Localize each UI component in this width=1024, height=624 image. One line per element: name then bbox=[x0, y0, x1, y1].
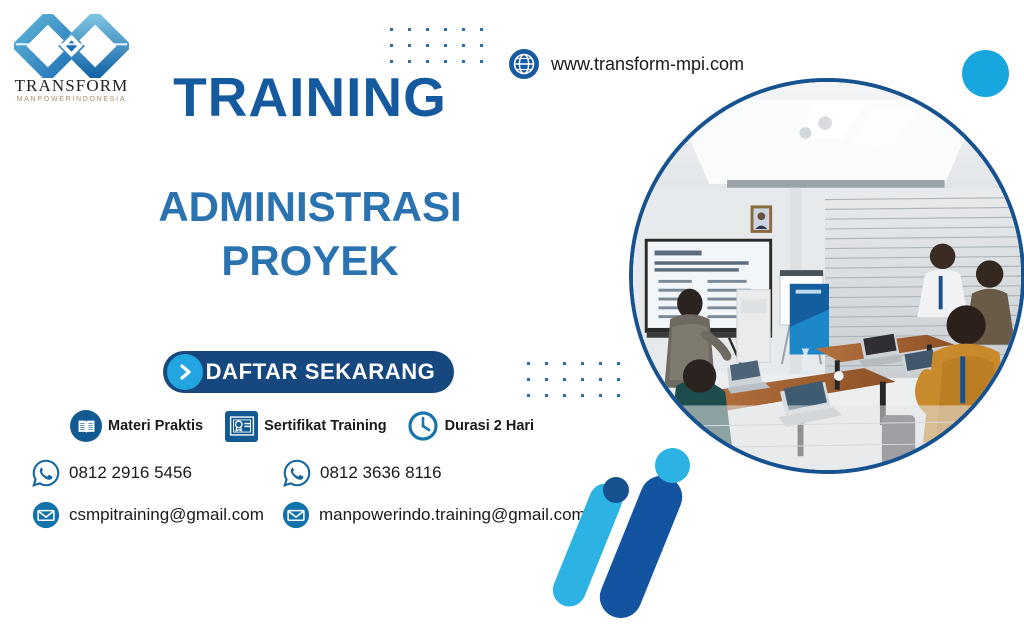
page-title: TRAINING bbox=[90, 70, 530, 125]
subtitle-line-2: PROYEK bbox=[90, 234, 530, 288]
feature-label-durasi: Durasi 2 Hari bbox=[445, 418, 534, 434]
transform-diamond-logo bbox=[14, 14, 129, 78]
whatsapp-icon bbox=[32, 459, 60, 487]
register-button[interactable]: DAFTAR SEKARANG bbox=[163, 351, 454, 393]
decor-circle-cyan bbox=[655, 448, 690, 483]
dot-grid-top bbox=[390, 28, 483, 63]
clock-icon bbox=[407, 410, 439, 442]
contact-phone-1[interactable]: 0812 2916 5456 bbox=[32, 459, 192, 487]
website-url: www.transform-mpi.com bbox=[551, 54, 744, 75]
training-room-illustration bbox=[633, 82, 1021, 470]
flyer-canvas: TRANSFORM MANPOWERINDONESIA www.transfor… bbox=[0, 0, 1024, 576]
certificate-icon bbox=[225, 411, 258, 442]
whatsapp-icon bbox=[283, 459, 311, 487]
chevron-right-icon bbox=[167, 354, 203, 390]
contact-email-2[interactable]: manpowerindo.training@gmail.com bbox=[282, 501, 586, 529]
envelope-icon bbox=[32, 501, 60, 529]
phone-number-1: 0812 2916 5456 bbox=[69, 463, 192, 483]
feature-item-materi: Materi Praktis bbox=[70, 410, 203, 442]
feature-label-sertifikat: Sertifikat Training bbox=[264, 418, 386, 434]
training-room-photo bbox=[629, 78, 1024, 474]
feature-item-sertifikat: Sertifikat Training bbox=[225, 411, 386, 442]
phone-number-2: 0812 3636 8116 bbox=[320, 463, 442, 483]
register-button-label: DAFTAR SEKARANG bbox=[203, 359, 454, 385]
decor-circle-top-right bbox=[962, 50, 1009, 97]
subtitle-line-1: ADMINISTRASI bbox=[90, 180, 530, 234]
email-address-2: manpowerindo.training@gmail.com bbox=[319, 505, 586, 525]
website-link[interactable]: www.transform-mpi.com bbox=[508, 48, 744, 80]
contact-phone-2[interactable]: 0812 3636 8116 bbox=[283, 459, 442, 487]
feature-label-materi: Materi Praktis bbox=[108, 418, 203, 434]
feature-item-durasi: Durasi 2 Hari bbox=[407, 410, 534, 442]
email-address-1: csmpitraining@gmail.com bbox=[69, 505, 264, 525]
dot-grid-mid bbox=[527, 362, 620, 397]
page-subtitle: ADMINISTRASI PROYEK bbox=[90, 180, 530, 288]
feature-list: Materi Praktis Sertifikat Training bbox=[70, 409, 580, 443]
envelope-icon bbox=[282, 501, 310, 529]
decor-circle-navy bbox=[603, 477, 629, 503]
contact-email-1[interactable]: csmpitraining@gmail.com bbox=[32, 501, 264, 529]
book-icon bbox=[70, 410, 102, 442]
